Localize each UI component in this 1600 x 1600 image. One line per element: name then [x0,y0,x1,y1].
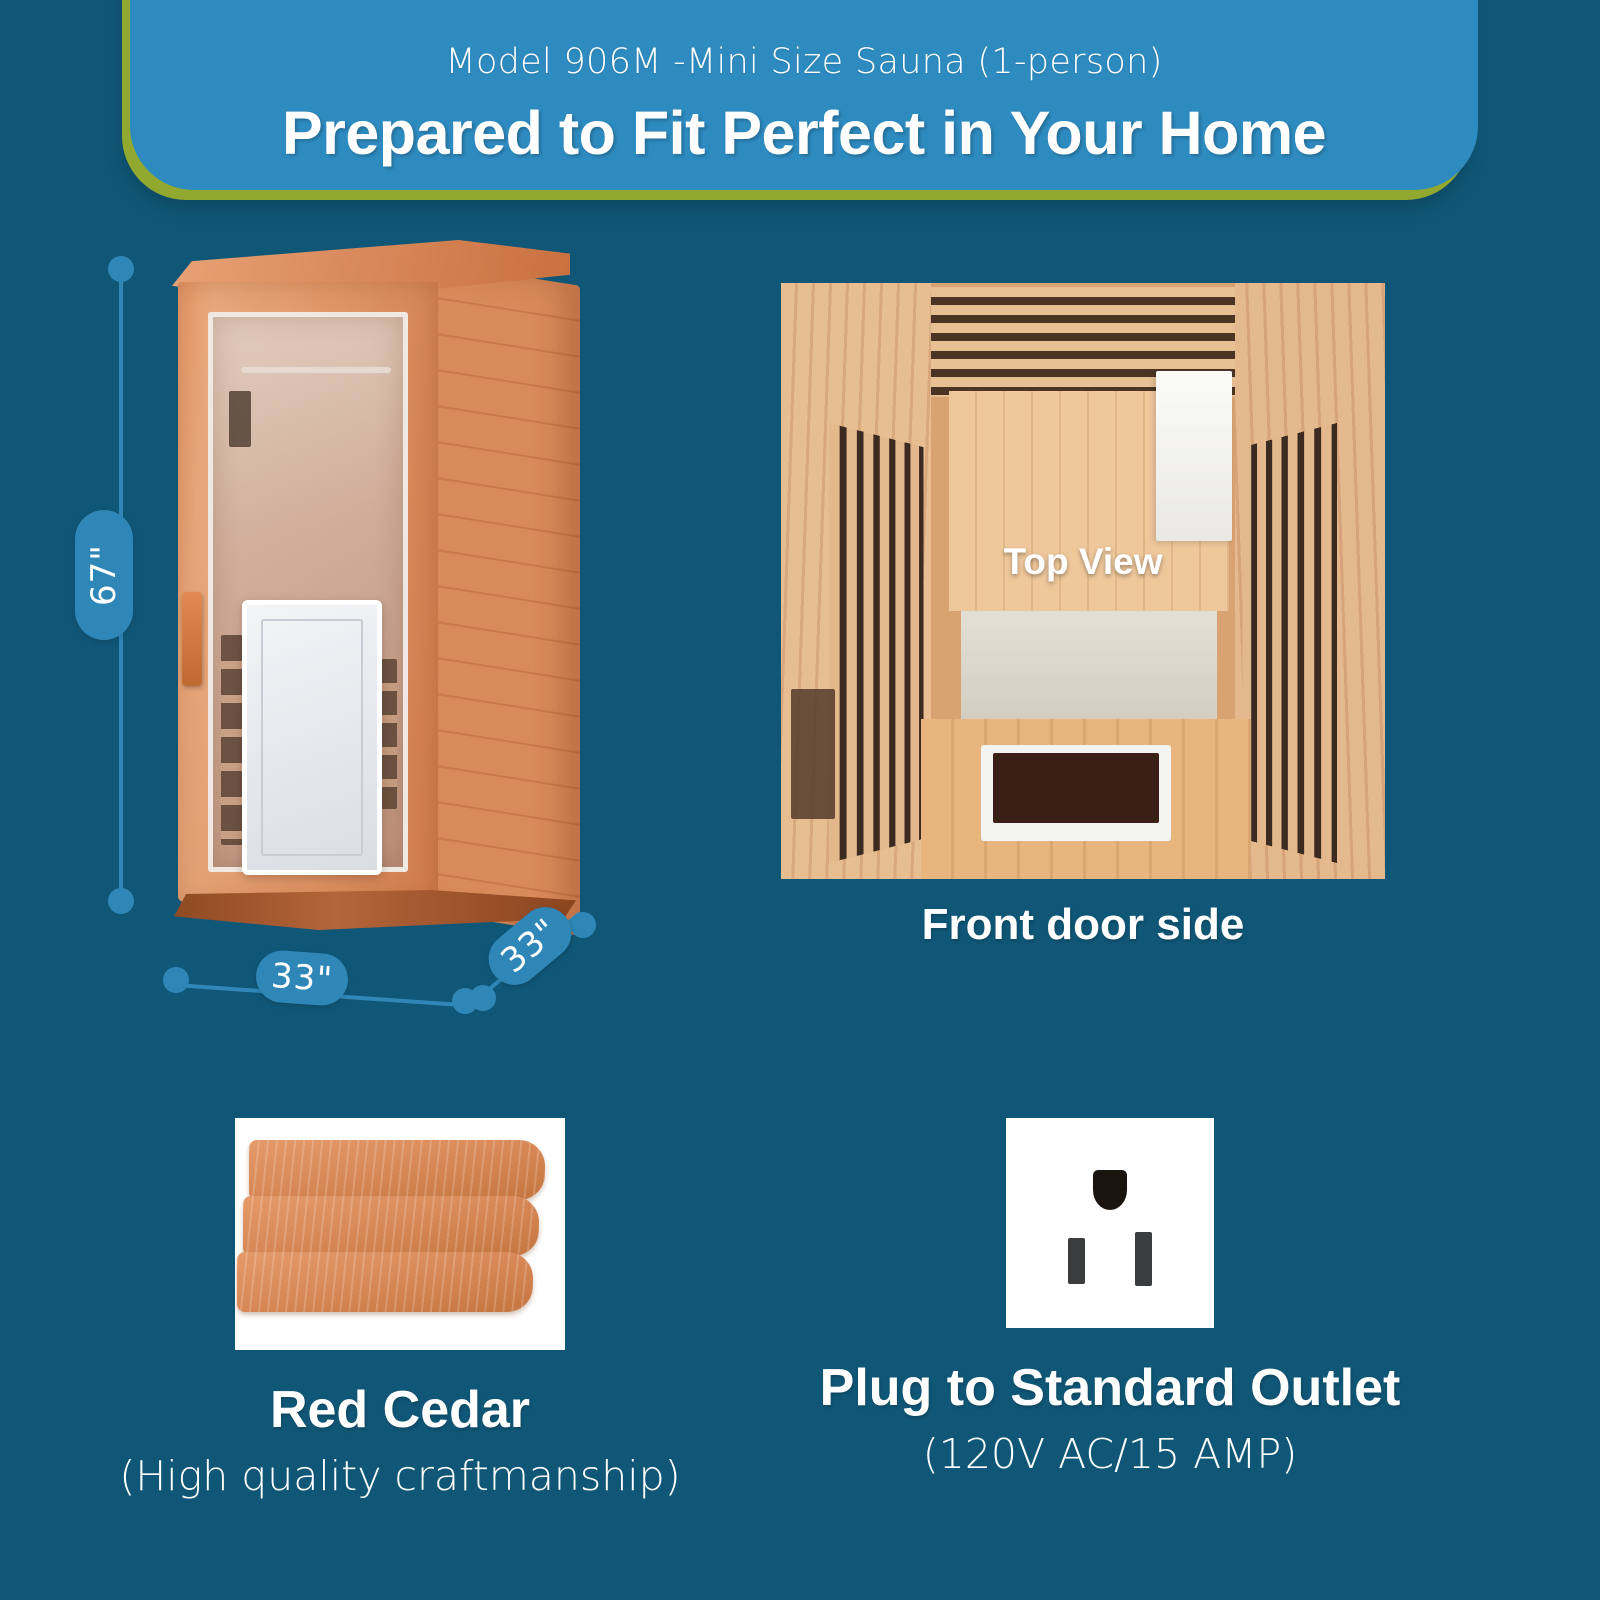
sauna-floor-heater-panel [981,745,1171,841]
banner-subtitle: Model 906M -Mini Size Sauna (1-person) [445,42,1162,82]
height-dimension-endpoint-bottom [108,888,134,914]
sauna-product-photo [160,240,580,940]
sauna-cabinet [160,240,580,940]
outlet-slot-left-icon [1068,1238,1085,1284]
sauna-side-panel [430,262,580,936]
width-dimension-label: 33" [254,949,349,1007]
height-dimension-label: 67" [75,510,133,640]
depth-dimension-endpoint-far [570,912,596,938]
sauna-left-heater-bench [829,423,923,863]
banner-title: Prepared to Fit Perfect in Your Home [282,98,1326,168]
feature-standard-outlet: Plug to Standard Outlet (120V AC/15 AMP) [760,1118,1460,1478]
topview-overlay-label: Top View [781,541,1385,583]
outlet-ground-hole-icon [1093,1170,1127,1210]
cedar-plank [249,1140,545,1200]
hanging-rod [241,367,391,373]
height-dimension-value: 67" [84,544,124,606]
white-front-heater-panel [242,600,382,875]
feature-title-red-cedar: Red Cedar [60,1380,740,1440]
frontdoor-caption: Front door side [781,900,1385,950]
feature-subtitle-outlet: (120V AC/15 AMP) [760,1430,1460,1478]
hanging-towel [1156,371,1232,541]
sauna-right-heater-bench [1243,423,1337,863]
feature-title-outlet: Plug to Standard Outlet [760,1358,1460,1418]
door-handle [182,592,202,686]
width-dimension-endpoint-left [163,967,189,993]
header-banner: Model 906M -Mini Size Sauna (1-person) P… [130,0,1478,190]
depth-dimension-endpoint-near [470,985,496,1011]
sauna-interior-topview-photo: Top View [781,283,1385,879]
outlet-slot-right-icon [1135,1232,1152,1286]
control-panel-icon [229,391,251,447]
electrical-outlet-photo [1006,1118,1214,1328]
feature-red-cedar: Red Cedar (High quality craftmanship) [60,1118,740,1500]
height-dimension-endpoint-top [108,256,134,282]
cedar-plank [237,1252,533,1312]
cedar-planks-photo [235,1118,565,1350]
cedar-plank [243,1196,539,1256]
interior-control-box [791,689,835,819]
banner-blue-panel: Model 906M -Mini Size Sauna (1-person) P… [130,0,1478,190]
feature-subtitle-red-cedar: (High quality craftmanship) [60,1452,740,1500]
